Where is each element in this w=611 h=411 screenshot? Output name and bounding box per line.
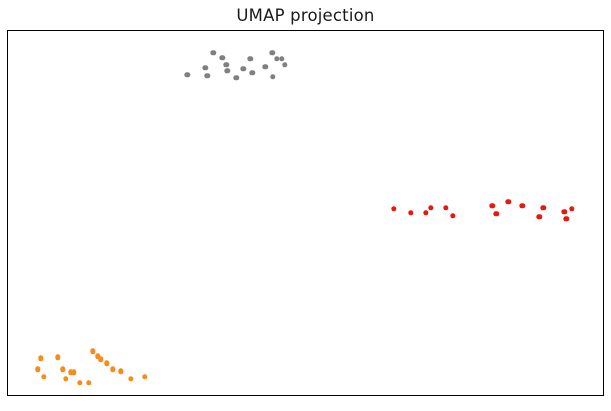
scatter-point (77, 380, 82, 385)
scatter-point (224, 62, 229, 67)
scatter-point (110, 366, 115, 371)
scatter-point (494, 211, 499, 216)
scatter-point (128, 376, 133, 381)
chart-title: UMAP projection (0, 6, 611, 26)
scatter-point (450, 213, 455, 218)
plot-area (7, 30, 604, 396)
scatter-point (428, 205, 433, 210)
scatter-point (41, 374, 46, 379)
scatter-point (520, 203, 525, 208)
scatter-point (98, 356, 103, 361)
scatter-point (540, 205, 545, 210)
scatter-point (490, 203, 495, 208)
scatter-point (55, 355, 60, 360)
scatter-point (247, 56, 252, 61)
scatter-point (279, 56, 284, 61)
scatter-point (443, 205, 448, 210)
scatter-point (35, 366, 40, 371)
scatter-point (63, 376, 68, 381)
scatter-point (225, 68, 230, 73)
scatter-point (142, 374, 147, 379)
scatter-point (391, 206, 396, 211)
scatter-point (118, 368, 123, 373)
scatter-point (569, 206, 574, 211)
scatter-point (561, 209, 566, 214)
scatter-point (60, 366, 65, 371)
scatter-point (104, 360, 109, 365)
scatter-point (203, 65, 208, 70)
umap-scatter-figure: UMAP projection (0, 0, 611, 411)
scatter-point (38, 355, 43, 360)
scatter-point (423, 210, 428, 215)
scatter-point (241, 66, 246, 71)
scatter-point (408, 210, 413, 215)
scatter-point (282, 62, 287, 67)
scatter-point (249, 70, 254, 75)
scatter-point (270, 74, 275, 79)
scatter-point (537, 214, 542, 219)
scatter-point (262, 64, 267, 69)
scatter-point (86, 380, 91, 385)
scatter-point (269, 50, 274, 55)
scatter-point (185, 72, 190, 77)
scatter-point (563, 216, 568, 221)
scatter-point (211, 50, 216, 55)
scatter-point (71, 369, 76, 374)
scatter-point (90, 349, 95, 354)
scatter-point (220, 55, 225, 60)
scatter-point (506, 199, 511, 204)
scatter-point (205, 73, 210, 78)
scatter-point (234, 75, 239, 80)
scatter-points-layer (8, 31, 603, 395)
